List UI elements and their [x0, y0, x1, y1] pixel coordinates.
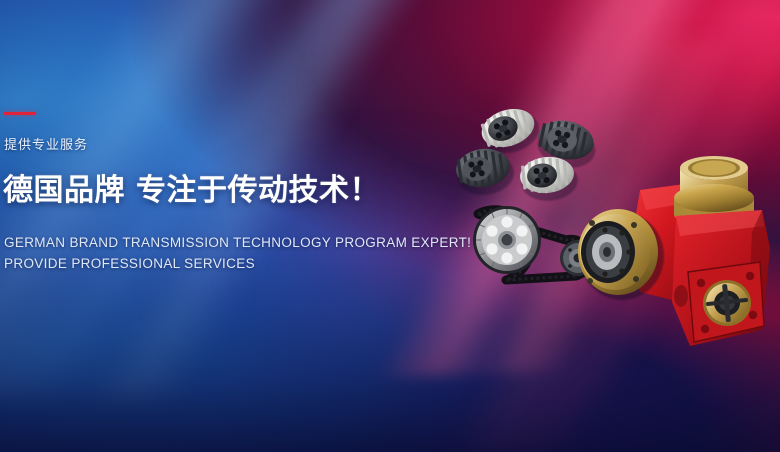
banner-headline: 德国品牌 专注于传动技术！ — [3, 165, 422, 209]
banner-eyebrow: 提供专业服务 — [4, 134, 422, 153]
banner-copy: 提供专业服务 德国品牌 专注于传动技术！ GERMAN BRAND TRANSM… — [2, 112, 422, 274]
banner-english-line-1: GERMAN BRAND TRANSMISSION TECHNOLOGY PRO… — [4, 232, 422, 253]
hero-banner: 提供专业服务 德国品牌 专注于传动技术！ GERMAN BRAND TRANSM… — [0, 0, 780, 452]
accent-rule — [4, 112, 36, 115]
banner-english-line-2: PROVIDE PROFESSIONAL SERVICES — [4, 253, 422, 274]
banner-english-copy: GERMAN BRAND TRANSMISSION TECHNOLOGY PRO… — [4, 232, 422, 274]
bottom-vignette — [0, 252, 780, 452]
